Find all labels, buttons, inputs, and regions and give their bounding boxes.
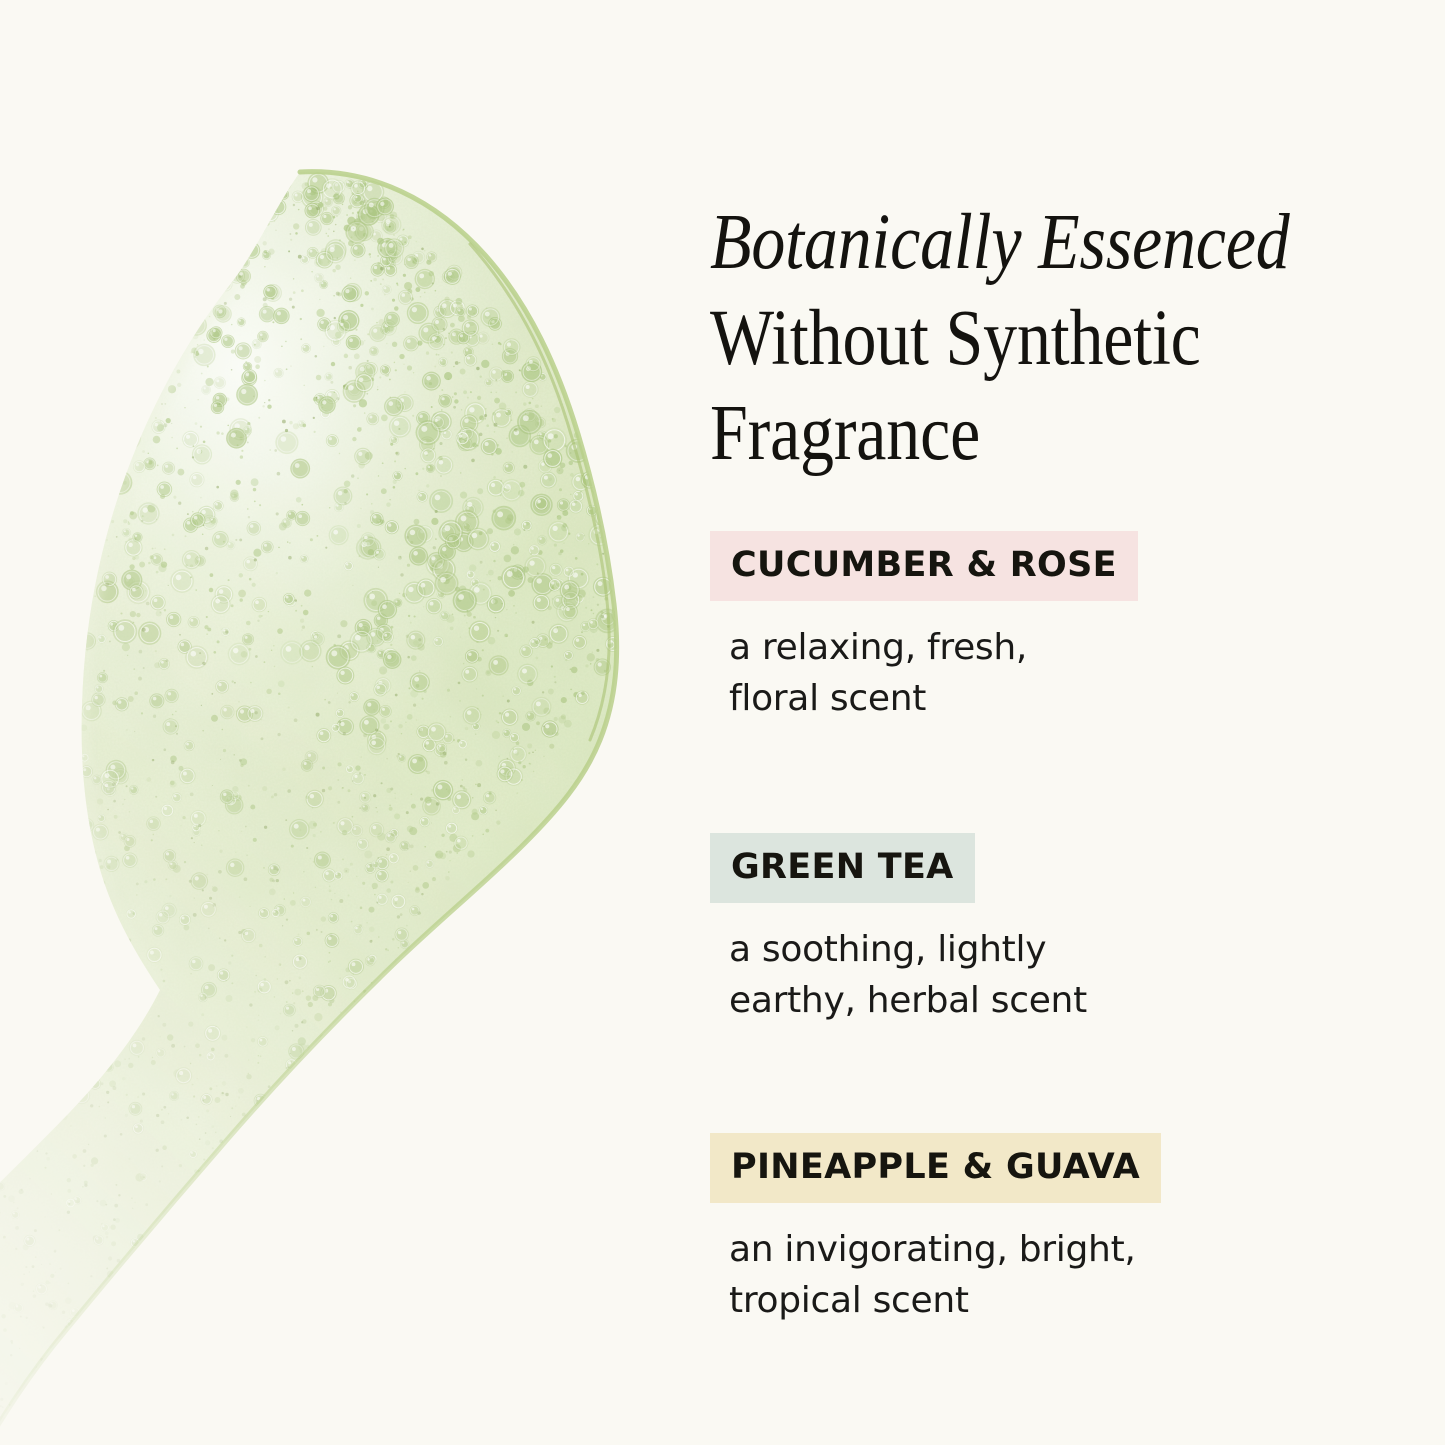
scent-description-line: floral scent: [729, 673, 1249, 724]
scent-description: an invigorating, bright, tropical scent: [729, 1224, 1249, 1326]
scent-badge-label: CUCUMBER & ROSE: [710, 531, 1138, 601]
page-title: Botanically Essenced Without Synthetic F…: [710, 195, 1226, 482]
green-gel-swatch-image: [0, 0, 700, 1445]
scent-block-cucumber-rose: CUCUMBER & ROSE a relaxing, fresh, flora…: [710, 531, 1350, 724]
copy-column: Botanically Essenced Without Synthetic F…: [710, 0, 1370, 1445]
scent-description-line: a soothing, lightly: [729, 924, 1249, 975]
headline-line-1: Botanically Essenced: [710, 195, 1226, 291]
headline-line-2: Without Synthetic: [710, 291, 1226, 387]
headline-line-3: Fragrance: [710, 386, 1226, 482]
scent-description: a relaxing, fresh, floral scent: [729, 622, 1249, 724]
product-marketing-card: Botanically Essenced Without Synthetic F…: [0, 0, 1445, 1445]
scent-description-line: tropical scent: [729, 1275, 1249, 1326]
scent-description-line: earthy, herbal scent: [729, 975, 1249, 1026]
scent-description-line: a relaxing, fresh,: [729, 622, 1249, 673]
scent-description: a soothing, lightly earthy, herbal scent: [729, 924, 1249, 1026]
scent-block-green-tea: GREEN TEA a soothing, lightly earthy, he…: [710, 833, 1350, 1026]
scent-badge-label: GREEN TEA: [710, 833, 975, 903]
scent-description-line: an invigorating, bright,: [729, 1224, 1249, 1275]
scent-badge-label: PINEAPPLE & GUAVA: [710, 1133, 1161, 1203]
scent-block-pineapple-guava: PINEAPPLE & GUAVA an invigorating, brigh…: [710, 1133, 1350, 1326]
